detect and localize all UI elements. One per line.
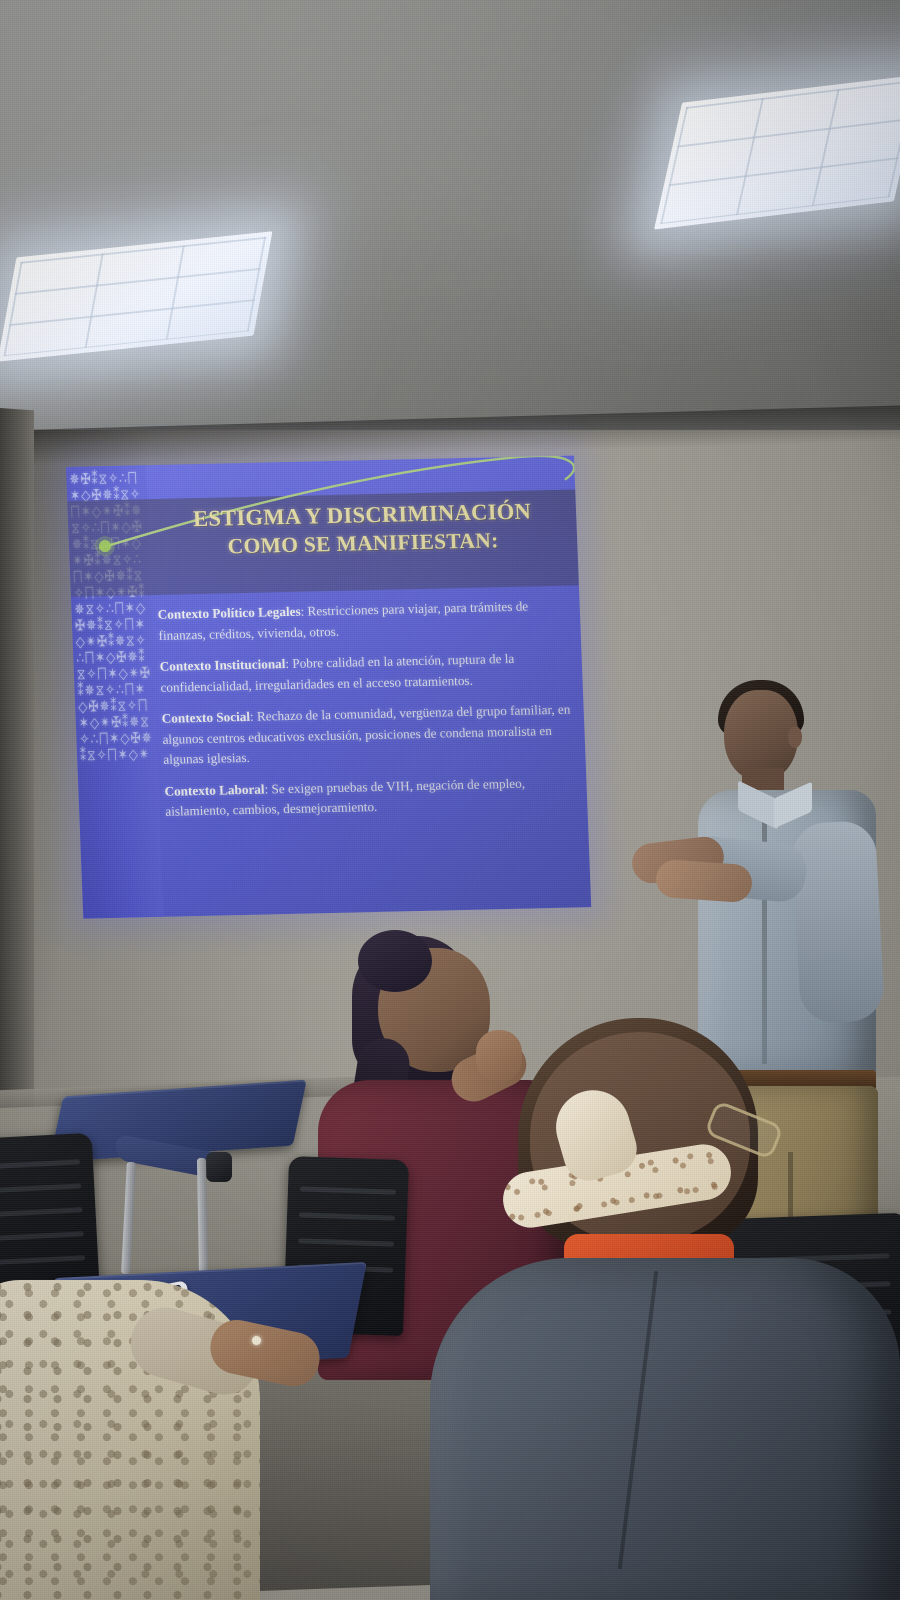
attendee-lace-top — [0, 1280, 290, 1600]
presenter-hand-lower — [655, 859, 753, 904]
classroom-photo: ✵✠⁑⧖✧∴⨅✶◇✠✵⁑⧖✧⨅✶◇✴✠⁑✵⧖✧∴⨅✶◇✠✵⁑⧖✧⨅✶◇✴✠⁑✵⧖… — [0, 0, 900, 1600]
attendee-maroon-hair-bun — [358, 930, 432, 992]
slide-bullet-2: Contexto Social: Rechazo de la comunidad… — [161, 700, 573, 771]
ceiling — [0, 0, 900, 470]
desk-back-pivot-knob — [206, 1152, 232, 1182]
slide-bullet-0: Contexto Político Legales: Restricciones… — [157, 596, 569, 646]
presenter-arm-right — [791, 820, 885, 1024]
slide-bullet-0-label: Contexto Político Legales — [157, 604, 300, 622]
projected-slide: ✵✠⁑⧖✧∴⨅✶◇✠✵⁑⧖✧⨅✶◇✴✠⁑✵⧖✧∴⨅✶◇✠✵⁑⧖✧⨅✶◇✴✠⁑✵⧖… — [66, 455, 591, 918]
slide-bullet-3-label: Contexto Laboral — [164, 781, 265, 798]
slide-bullet-1-label: Contexto Institucional — [159, 656, 285, 674]
presenter-head — [724, 690, 798, 780]
slide-bullet-1: Contexto Institucional: Pobre calidad en… — [159, 648, 571, 698]
wall-corner-left — [0, 408, 34, 1170]
slide-title: ESTIGMA Y DISCRIMINACIÓN COMO SE MANIFIE… — [156, 496, 570, 563]
ceiling-shading — [0, 0, 900, 470]
attendee-lace-ring — [252, 1336, 261, 1345]
slide-bullet-3: Contexto Laboral: Se exigen pruebas de V… — [164, 772, 576, 822]
attendee-hoodie-garment — [430, 1258, 900, 1600]
slide-bullet-2-label: Contexto Social — [161, 709, 250, 726]
presenter-ear — [788, 726, 802, 748]
slide-body: Contexto Político Legales: Restricciones… — [157, 596, 576, 834]
attendee-gray-hoodie — [440, 1008, 900, 1600]
